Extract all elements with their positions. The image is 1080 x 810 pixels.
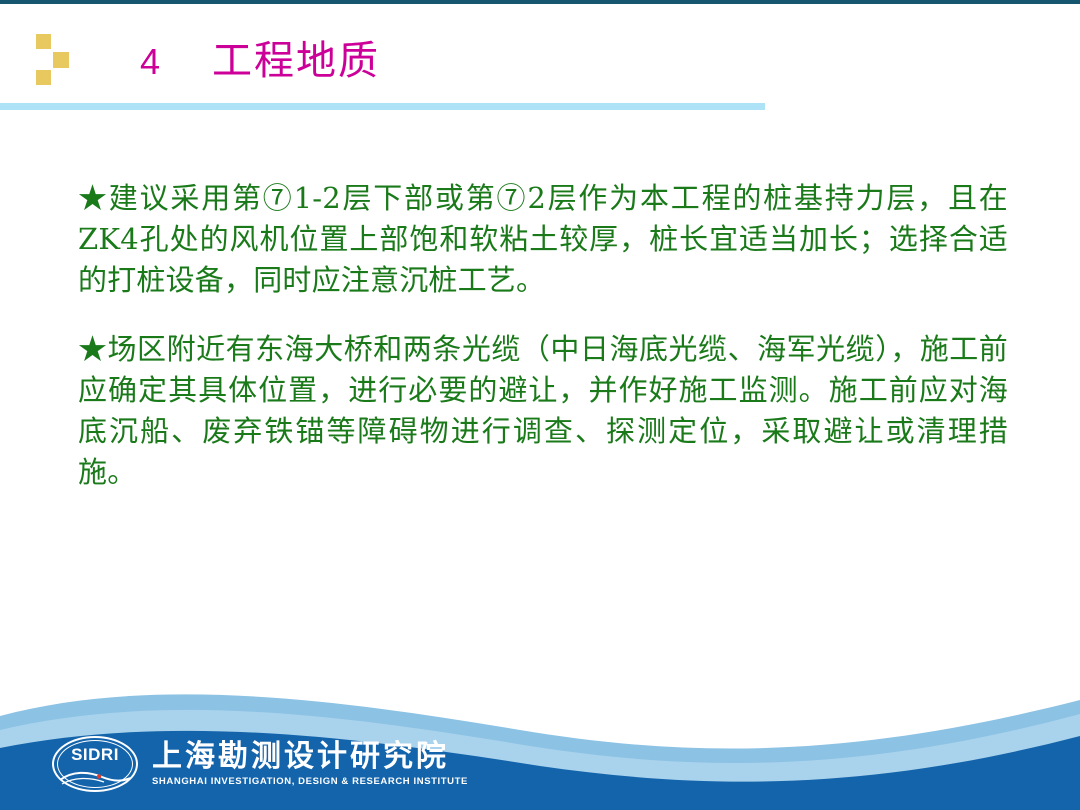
slide-body: ★建议采用第⑦1-2层下部或第⑦2层作为本工程的桩基持力层，且在ZK4孔处的风机… [78, 178, 1008, 493]
company-name-en: SHANGHAI INVESTIGATION, DESIGN & RESEARC… [152, 775, 468, 789]
gold-squares-decoration-icon [36, 34, 88, 88]
gold-square-middle-icon [53, 52, 69, 68]
section-title: 工程地质 [212, 28, 380, 86]
body-paragraph-1: ★建议采用第⑦1-2层下部或第⑦2层作为本工程的桩基持力层，且在ZK4孔处的风机… [78, 178, 1008, 301]
title-underline-bar [0, 103, 765, 110]
slide-canvas: 4 工程地质 ★建议采用第⑦1-2层下部或第⑦2层作为本工程的桩基持力层，且在Z… [0, 0, 1080, 810]
company-logo: SIDRI 上海勘测设计研究院 SHANGHAI INVESTIGATION, … [52, 736, 468, 792]
page-title: 4 工程地质 [140, 28, 380, 86]
company-name-cn: 上海勘测设计研究院 [152, 740, 468, 774]
slide-header: 4 工程地质 [0, 4, 1080, 108]
gold-square-bottom-icon [36, 70, 51, 85]
slide-footer: SIDRI 上海勘测设计研究院 SHANGHAI INVESTIGATION, … [0, 670, 1080, 810]
badge-text: SIDRI [52, 745, 138, 765]
section-number: 4 [140, 41, 160, 83]
gold-square-top-icon [36, 34, 51, 49]
badge-wave-swoosh-icon [58, 767, 132, 787]
company-name-block: 上海勘测设计研究院 SHANGHAI INVESTIGATION, DESIGN… [152, 740, 468, 789]
sidri-badge-icon: SIDRI [52, 736, 138, 792]
body-paragraph-2: ★场区附近有东海大桥和两条光缆（中日海底光缆、海军光缆），施工前应确定其具体位置… [78, 329, 1008, 493]
